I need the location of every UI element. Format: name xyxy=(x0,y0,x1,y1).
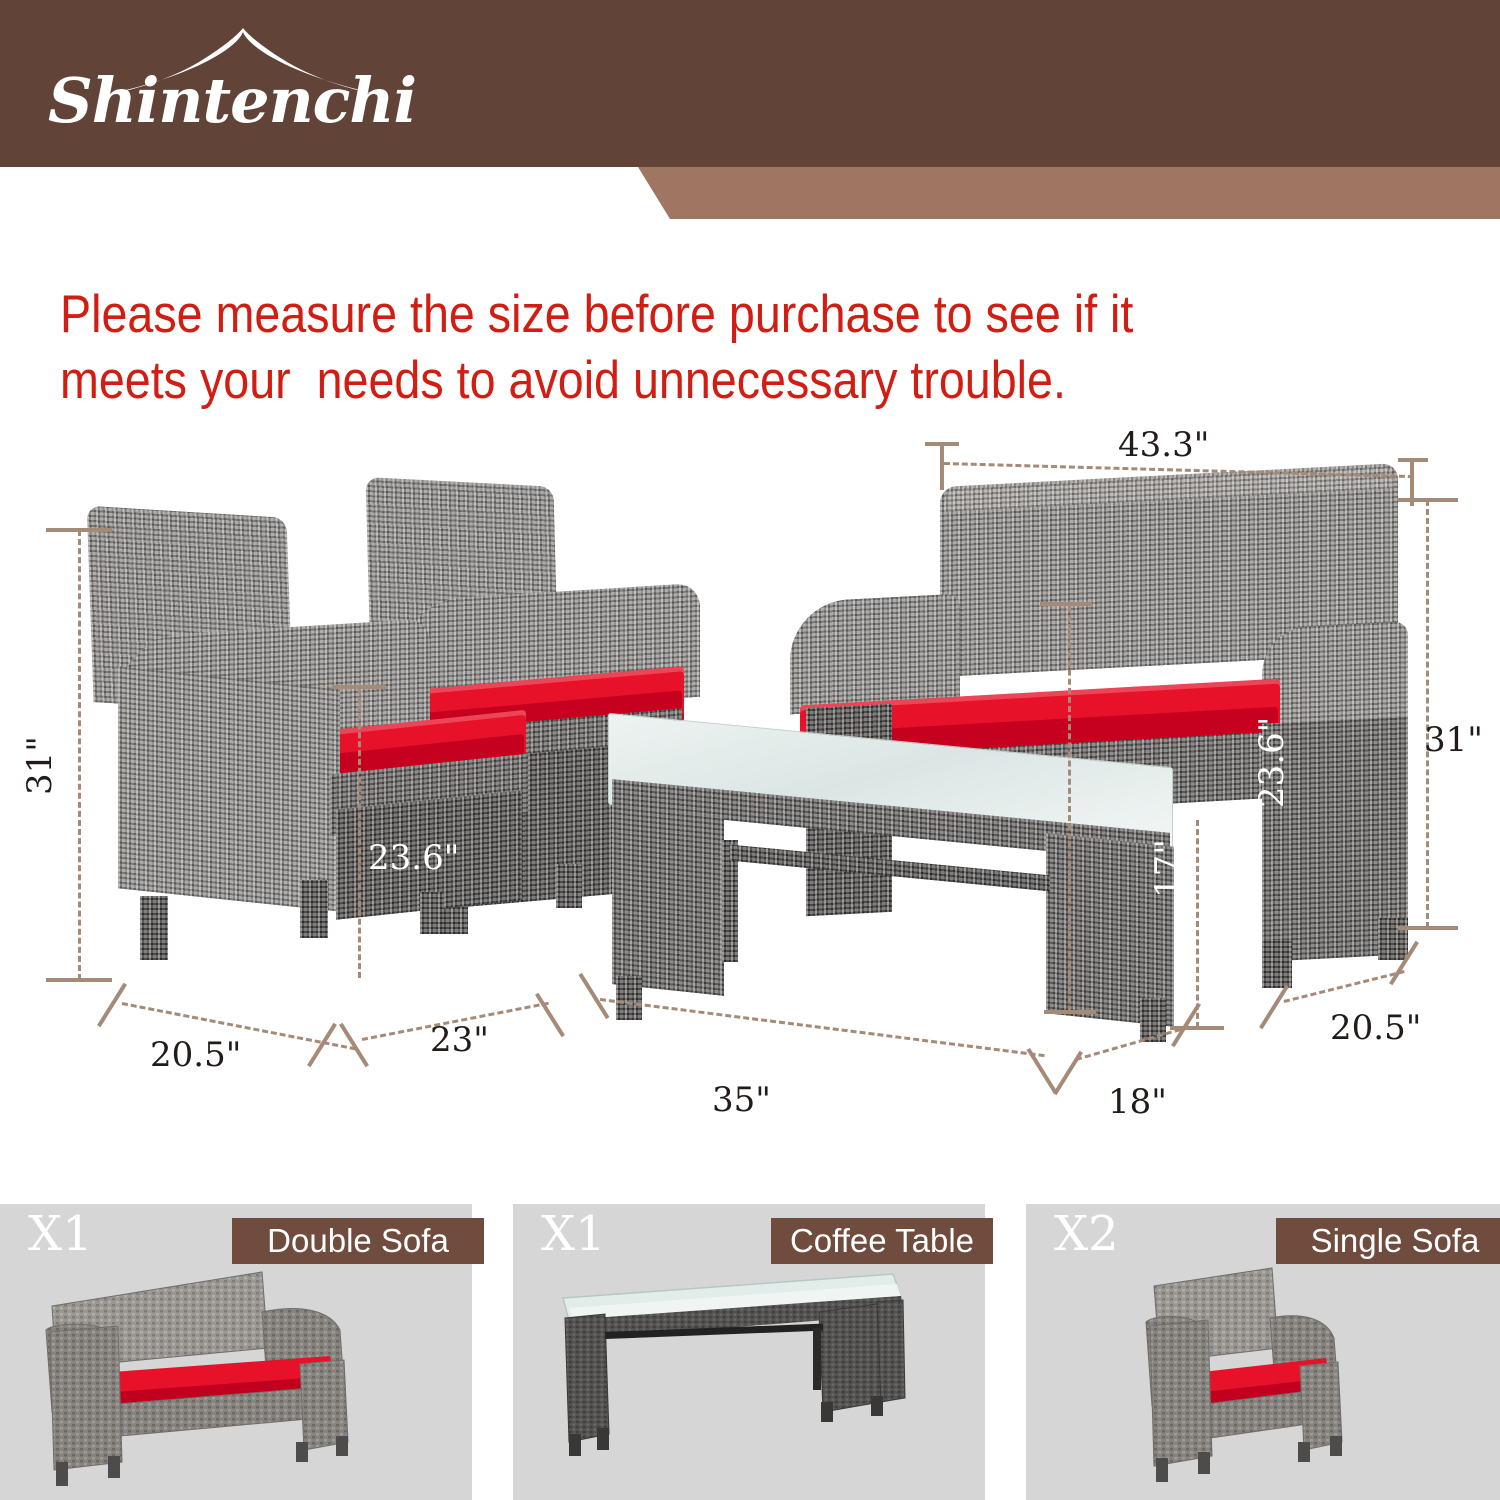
header-light-band xyxy=(0,167,1500,219)
brand-wordmark: Shintenchi xyxy=(48,64,416,137)
card-coffee-table[interactable]: X1 Coffee Table xyxy=(513,1204,985,1500)
double-sofa-art xyxy=(0,1256,472,1500)
card-count-single-sofa: X2 xyxy=(1054,1210,1119,1258)
card-count-double-sofa: X1 xyxy=(28,1210,93,1258)
card-double-sofa[interactable]: X1 Double Sofa xyxy=(0,1204,472,1500)
coffee-table-art xyxy=(513,1256,985,1500)
product-contents-cards: X1 Double Sofa xyxy=(0,1196,1500,1500)
header-banner: Shintenchi xyxy=(0,0,1500,222)
brand-logo: Shintenchi xyxy=(48,18,388,153)
card-count-coffee-table: X1 xyxy=(541,1210,606,1258)
page-headline: Please measure the size before purchase … xyxy=(60,282,1283,413)
card-single-sofa[interactable]: X2 Single Sofa xyxy=(1026,1204,1500,1500)
single-sofa-art xyxy=(1026,1256,1500,1500)
dimension-diagram: 43.3" 31" 23.6" 20.5" 23" 35" 1 xyxy=(0,420,1500,1180)
